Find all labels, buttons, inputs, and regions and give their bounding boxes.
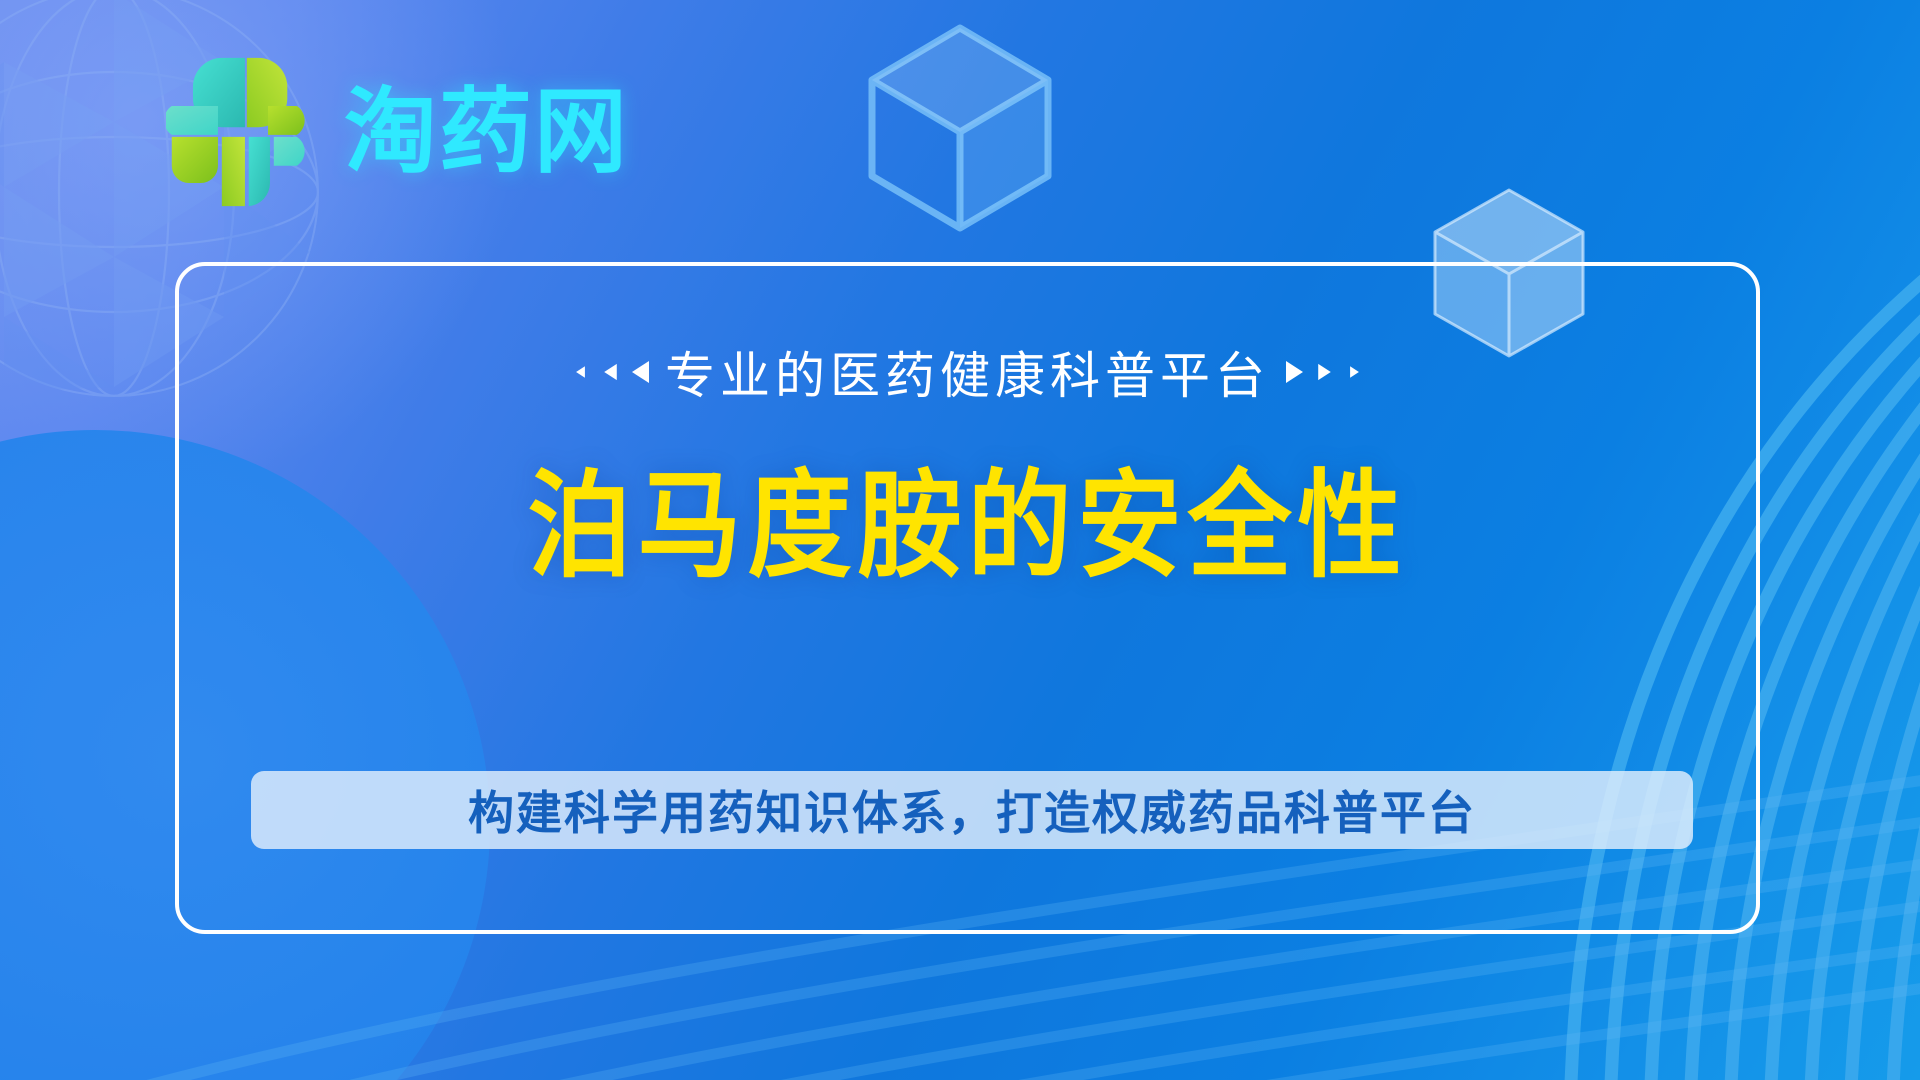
arrows-left-group [572, 361, 649, 383]
brand-name: 淘药网 [344, 86, 629, 179]
triangle-right-large-icon [1286, 361, 1303, 383]
tagline-text: 专业的医药健康科普平台 [665, 336, 1270, 408]
triangle-left-large-icon [632, 361, 649, 383]
pinwheel-cross-icon [166, 52, 320, 212]
tagline-row: 专业的医药健康科普平台 [179, 336, 1756, 408]
isometric-cube-outline-icon [862, 18, 1058, 238]
triangle-right-small-icon [1350, 366, 1359, 377]
triangle-left-small-icon [576, 366, 585, 377]
brand-header[interactable]: 淘药网 [166, 52, 629, 212]
triangle-left-medium-icon [604, 364, 617, 380]
subtitle-ribbon: 构建科学用药知识体系，打造权威药品科普平台 [251, 771, 1693, 849]
triangle-right-medium-icon [1318, 364, 1331, 380]
arrows-right-group [1286, 361, 1363, 383]
subtitle-text: 构建科学用药知识体系，打造权威药品科普平台 [468, 777, 1476, 843]
banner-canvas: 淘药网 专业的医药健康科普平台 泊马度胺的安全性 构建科学用药知识体系，打造权威… [0, 0, 1920, 1080]
page-title: 泊马度胺的安全性 [179, 464, 1756, 590]
hero-card: 专业的医药健康科普平台 泊马度胺的安全性 构建科学用药知识体系，打造权威药品科普… [175, 262, 1760, 934]
